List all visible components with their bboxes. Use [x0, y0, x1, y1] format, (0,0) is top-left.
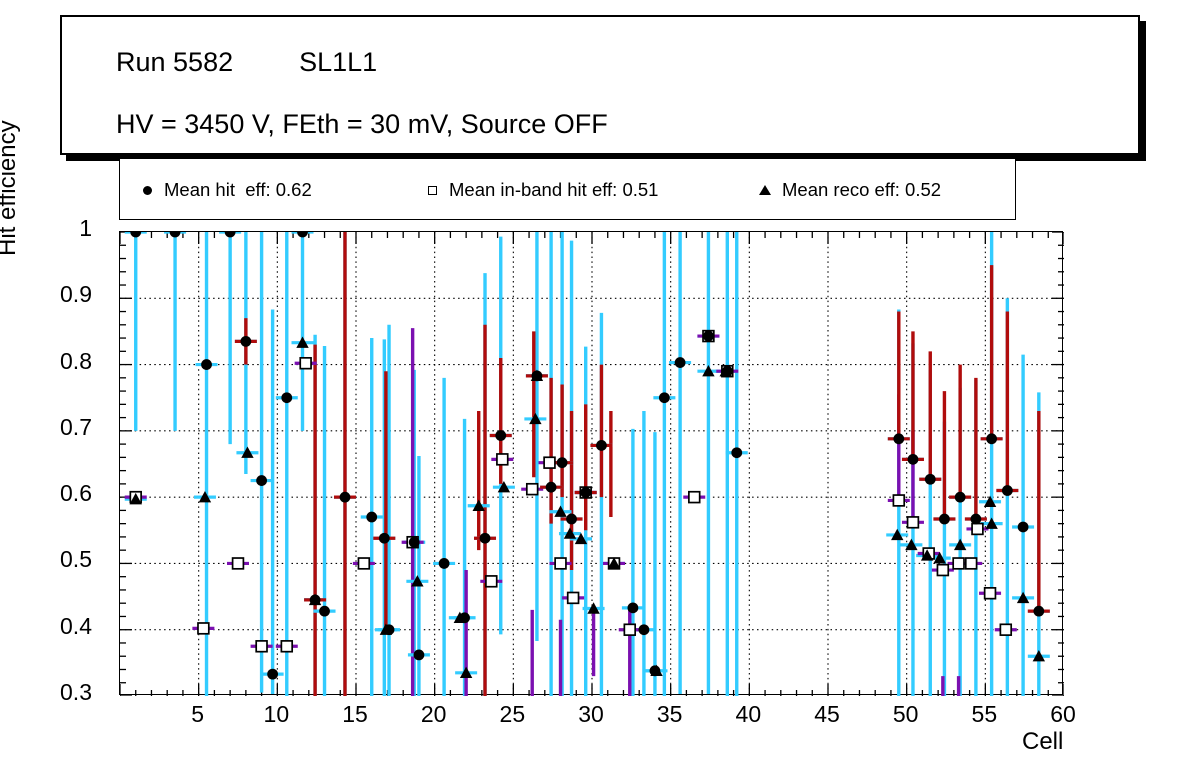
- data-point-hit-eff: [546, 482, 557, 493]
- x-axis-tick-label: 30: [551, 701, 631, 728]
- y-axis-tick-label: 0.3: [60, 679, 92, 706]
- data-point-inband-hit-eff: [937, 565, 948, 576]
- data-point-hit-eff: [297, 232, 308, 237]
- y-axis-tick-label: 0.6: [60, 480, 92, 507]
- x-axis-tick-label: 45: [787, 701, 867, 728]
- data-point-hit-eff: [495, 430, 506, 441]
- data-point-hit-eff: [256, 475, 267, 486]
- legend-box: Mean hit eff: 0.62 Mean in-band hit eff:…: [119, 158, 1016, 220]
- data-point-hit-eff: [439, 558, 450, 569]
- data-point-inband-hit-eff: [893, 495, 904, 506]
- data-point-inband-hit-eff: [908, 517, 919, 528]
- data-point-hit-eff: [130, 232, 141, 237]
- data-point-hit-eff: [414, 650, 425, 661]
- open-square-icon: [415, 186, 449, 195]
- x-axis-tick-label: 50: [866, 701, 946, 728]
- data-point-inband-hit-eff: [555, 558, 566, 569]
- data-point-hit-eff: [650, 665, 661, 676]
- data-point-hit-eff: [566, 514, 577, 525]
- data-point-hit-eff: [955, 492, 966, 503]
- x-axis-tick-label: 15: [315, 701, 395, 728]
- data-point-inband-hit-eff: [985, 588, 996, 599]
- data-point-hit-eff: [675, 357, 686, 368]
- legend-entry-inband-hit-eff: Mean in-band hit eff: 0.51: [415, 159, 658, 221]
- legend-entry-hit-eff: Mean hit eff: 0.62: [130, 159, 312, 221]
- title-box: Run 5582SL1L1 HV = 3450 V, FEth = 30 mV,…: [60, 15, 1140, 155]
- data-point-hit-eff: [459, 612, 470, 623]
- data-point-inband-hit-eff: [953, 558, 964, 569]
- data-point-hit-eff: [939, 514, 950, 525]
- x-axis-tick-label: 10: [236, 701, 316, 728]
- data-point-hit-eff: [225, 232, 236, 237]
- data-point-hit-eff: [557, 457, 568, 468]
- data-point-inband-hit-eff: [486, 576, 497, 587]
- data-point-hit-eff: [532, 370, 543, 381]
- data-point-inband-hit-eff: [300, 358, 311, 369]
- title-line-conditions: HV = 3450 V, FEth = 30 mV, Source OFF: [116, 109, 608, 140]
- title-line-run: Run 5582SL1L1: [116, 47, 377, 78]
- plot-page: Run 5582SL1L1 HV = 3450 V, FEth = 30 mV,…: [0, 0, 1196, 772]
- data-point-inband-hit-eff: [358, 558, 369, 569]
- data-point-inband-hit-eff: [527, 484, 538, 495]
- data-point-hit-eff: [1002, 485, 1013, 496]
- x-axis-tick-label: 25: [472, 701, 552, 728]
- data-point-hit-eff: [925, 474, 936, 485]
- x-axis-tick-label: 55: [944, 701, 1024, 728]
- x-axis-tick-label: 5: [158, 701, 238, 728]
- data-point-inband-hit-eff: [1000, 624, 1011, 635]
- y-axis-title: Hit efficiency: [0, 120, 22, 256]
- data-point-hit-eff: [639, 624, 650, 635]
- y-axis-tick-label: 0.8: [60, 348, 92, 375]
- data-point-hit-eff: [722, 366, 733, 377]
- data-point-inband-hit-eff: [972, 524, 983, 535]
- x-axis-tick-label: 40: [708, 701, 788, 728]
- data-point-inband-hit-eff: [544, 457, 555, 468]
- data-point-inband-hit-eff: [281, 641, 292, 652]
- data-point-hit-eff: [731, 447, 742, 458]
- data-point-hit-eff: [1018, 522, 1029, 533]
- filled-triangle-icon: [748, 185, 782, 195]
- legend-label-reco-eff: Mean reco eff: 0.52: [782, 179, 941, 201]
- x-axis-tick-label: 20: [394, 701, 474, 728]
- data-point-hit-eff: [384, 624, 395, 635]
- data-point-hit-eff: [281, 392, 292, 403]
- data-point-hit-eff: [480, 533, 491, 544]
- data-point-hit-eff: [908, 454, 919, 465]
- y-axis-tick-label: 0.4: [60, 613, 92, 640]
- data-point-hit-eff: [659, 392, 670, 403]
- data-point-hit-eff: [170, 232, 181, 237]
- data-point-inband-hit-eff: [256, 641, 267, 652]
- data-point-inband-hit-eff: [966, 558, 977, 569]
- data-point-hit-eff: [310, 594, 321, 605]
- title-run-text: Run 5582: [116, 47, 233, 77]
- scatter-plot-canvas: [120, 232, 1064, 696]
- y-axis-tick-label: 0.5: [60, 546, 92, 573]
- data-point-hit-eff: [409, 537, 420, 548]
- legend-label-hit-eff: Mean hit eff: 0.62: [164, 179, 312, 201]
- data-point-hit-eff: [596, 440, 607, 451]
- x-axis-title: Cell: [1022, 728, 1063, 756]
- data-point-hit-eff: [580, 487, 591, 498]
- x-axis-tick-label: 60: [1023, 701, 1103, 728]
- data-point-inband-hit-eff: [198, 623, 209, 634]
- data-point-hit-eff: [970, 514, 981, 525]
- data-point-hit-eff: [379, 533, 390, 544]
- data-point-hit-eff: [201, 359, 212, 370]
- data-point-hit-eff: [319, 606, 330, 617]
- data-point-hit-eff: [893, 433, 904, 444]
- data-point-hit-eff: [340, 492, 351, 503]
- legend-entry-reco-eff: Mean reco eff: 0.52: [748, 159, 941, 221]
- data-point-inband-hit-eff: [568, 592, 579, 603]
- y-axis-tick-label: 1: [79, 215, 92, 242]
- y-axis-tick-label: 0.9: [60, 281, 92, 308]
- data-point-inband-hit-eff: [497, 454, 508, 465]
- data-point-hit-eff: [628, 602, 639, 613]
- data-point-inband-hit-eff: [233, 558, 244, 569]
- data-point-hit-eff: [366, 512, 377, 523]
- title-superlayer-text: SL1L1: [299, 47, 377, 77]
- data-point-hit-eff: [267, 669, 278, 680]
- filled-circle-icon: [130, 186, 164, 195]
- data-point-hit-eff: [240, 336, 251, 347]
- y-axis-tick-label: 0.7: [60, 414, 92, 441]
- data-point-inband-hit-eff: [624, 624, 635, 635]
- plot-frame: [119, 231, 1063, 695]
- x-axis-tick-label: 35: [630, 701, 710, 728]
- data-point-inband-hit-eff: [689, 492, 700, 503]
- data-point-hit-eff: [703, 331, 714, 342]
- data-point-hit-eff: [986, 433, 997, 444]
- legend-label-inband-hit-eff: Mean in-band hit eff: 0.51: [449, 179, 658, 201]
- data-point-hit-eff: [1033, 606, 1044, 617]
